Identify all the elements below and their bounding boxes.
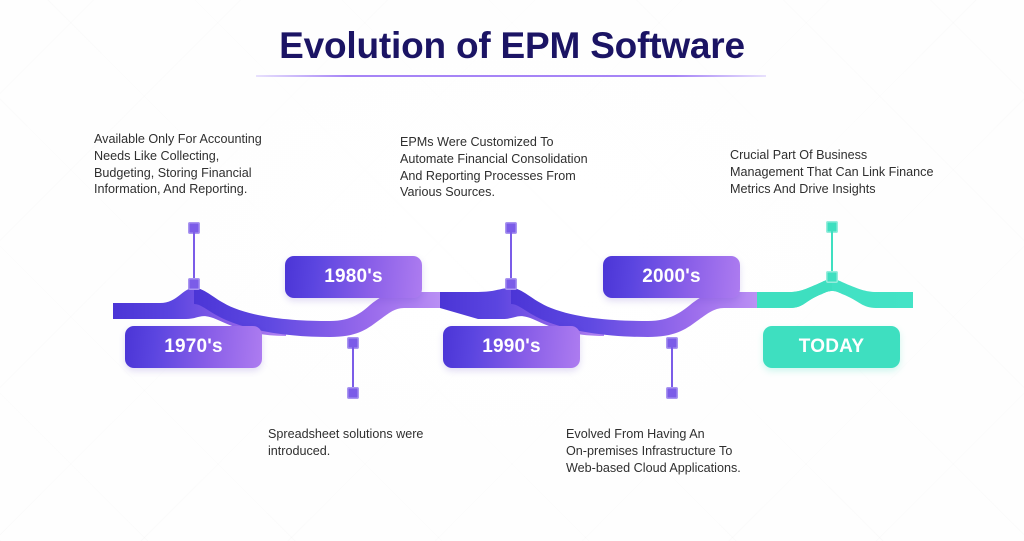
connector-node-bottom — [505, 278, 517, 290]
era-pill-label: 1990's — [482, 336, 541, 358]
connector-era-2000s — [666, 337, 678, 399]
era-pill-1990s[interactable]: 1990's — [443, 326, 580, 368]
connector-node-bottom — [188, 278, 200, 290]
connector-era-today — [826, 221, 838, 283]
caption-era-1980s: Spreadsheet solutions were introduced. — [268, 426, 498, 460]
connector-node-bottom — [347, 387, 359, 399]
caption-era-1990s: EPMs Were Customized To Automate Financi… — [400, 134, 625, 201]
connector-stem — [352, 343, 354, 393]
connector-stem — [510, 228, 512, 284]
caption-era-2000s: Evolved From Having An On-premises Infra… — [566, 426, 796, 476]
connector-node-bottom — [666, 387, 678, 399]
era-pill-label: TODAY — [799, 336, 864, 358]
era-pill-label: 1970's — [164, 336, 223, 358]
connector-node-bottom — [826, 271, 838, 283]
connector-era-1980s — [347, 337, 359, 399]
era-pill-label: 1980's — [324, 266, 383, 288]
connector-era-1990s — [505, 222, 517, 290]
era-pill-today[interactable]: TODAY — [763, 326, 900, 368]
era-pill-1980s[interactable]: 1980's — [285, 256, 422, 298]
connector-era-1970s — [188, 222, 200, 290]
ribbon-segment-5-teal — [757, 279, 913, 308]
caption-era-1970s: Available Only For Accounting Needs Like… — [94, 131, 364, 198]
connector-stem — [193, 228, 195, 284]
era-pill-2000s[interactable]: 2000's — [603, 256, 740, 298]
caption-era-today: Crucial Part Of Business Management That… — [730, 147, 970, 197]
infographic-stage: Evolution of EPM Software — [0, 0, 1024, 541]
era-pill-1970s[interactable]: 1970's — [125, 326, 262, 368]
connector-stem — [671, 343, 673, 393]
era-pill-label: 2000's — [642, 266, 701, 288]
connector-stem — [831, 227, 833, 277]
